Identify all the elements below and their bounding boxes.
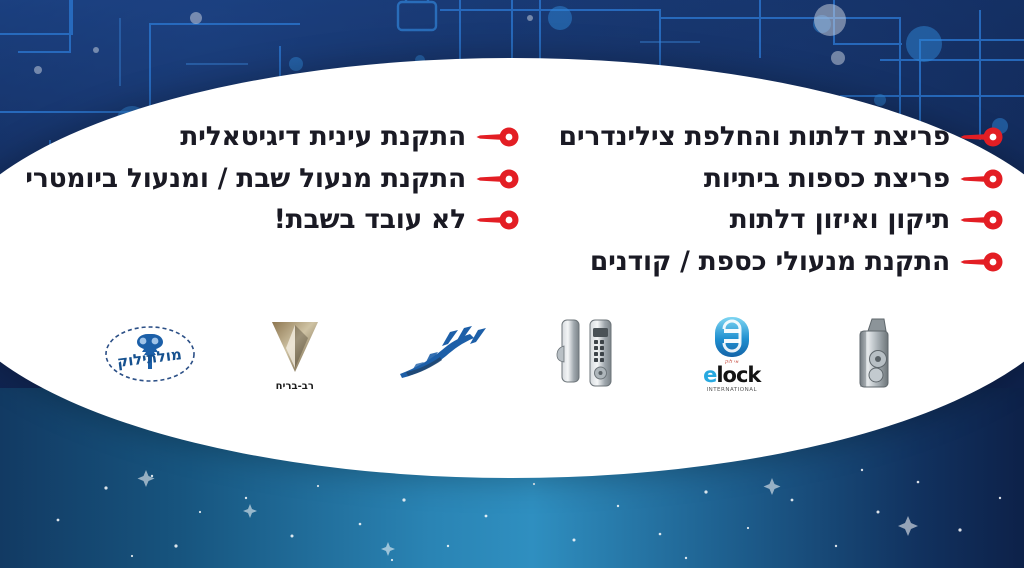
key-icon xyxy=(476,209,520,231)
logo-elock[interactable]: אי לוק elock INTERNATIONAL xyxy=(685,311,779,397)
service-item[interactable]: פריצת דלתות והחלפת צילינדרים xyxy=(534,122,1004,152)
services-list: פריצת דלתות והחלפת צילינדרים פריצת כספות… xyxy=(12,122,1012,277)
services-left-column: התקנת עינית דיגיטאלית התקנת מנעול שבת / … xyxy=(20,122,520,277)
brand-logos-row: מולתילוק רב-בריח xyxy=(102,311,922,397)
elock-subtitle: INTERNATIONAL xyxy=(706,387,757,393)
key-oval-logo-icon: מולתילוק xyxy=(102,323,198,385)
logo-cylinder-lock[interactable] xyxy=(829,311,923,397)
logo-caption: רב-בריח xyxy=(276,381,314,392)
logo-rav-bariach[interactable]: רב-בריח xyxy=(248,311,342,397)
service-label: התקנת מנעול שבת / ומנעול ביומטרי xyxy=(25,164,466,194)
elock-logo-icon xyxy=(707,315,757,359)
service-label: התקנת מנעולי כספת / קודנים xyxy=(590,247,950,277)
elock-wordmark-main: lock xyxy=(716,363,760,387)
service-label: התקנת עינית דיגיטאלית xyxy=(180,122,466,152)
logo-yale-signature[interactable] xyxy=(392,311,492,397)
service-item[interactable]: לא עובד בשבת! xyxy=(20,205,520,235)
services-right-column: פריצת דלתות והחלפת צילינדרים פריצת כספות… xyxy=(534,122,1004,277)
elock-wordmark-prefix: e xyxy=(703,363,716,387)
key-icon xyxy=(476,168,520,190)
service-item[interactable]: התקנת עינית דיגיטאלית xyxy=(20,122,520,152)
key-icon xyxy=(960,126,1004,148)
key-icon xyxy=(960,209,1004,231)
card-content: פריצת דלתות והחלפת צילינדרים פריצת כספות… xyxy=(0,58,1024,478)
keypad-lock-icon xyxy=(556,316,620,392)
cylinder-lock-icon xyxy=(852,317,898,391)
signature-logo-icon xyxy=(390,324,494,384)
service-label: פריצת כספות ביתיות xyxy=(704,164,950,194)
shield-logo-icon xyxy=(264,316,326,378)
key-icon xyxy=(960,168,1004,190)
service-label: לא עובד בשבת! xyxy=(274,205,466,235)
elock-wordmark: elock xyxy=(703,365,760,386)
service-item[interactable]: פריצת כספות ביתיות xyxy=(534,164,1004,194)
service-label: תיקון ואיזון דלתות xyxy=(730,205,950,235)
svg-text:מולתילוק: מולתילוק xyxy=(116,345,183,371)
locksmith-services-banner: פריצת דלתות והחלפת צילינדרים פריצת כספות… xyxy=(0,0,1024,568)
key-icon xyxy=(476,126,520,148)
logo-keypad-lock[interactable] xyxy=(542,311,636,397)
service-item[interactable]: התקנת מנעולי כספת / קודנים xyxy=(534,247,1004,277)
key-icon xyxy=(960,251,1004,273)
service-item[interactable]: תיקון ואיזון דלתות xyxy=(534,205,1004,235)
service-label: פריצת דלתות והחלפת צילינדרים xyxy=(559,122,950,152)
service-item[interactable]: התקנת מנעול שבת / ומנעול ביומטרי xyxy=(20,164,520,194)
logo-mul-t-lock[interactable]: מולתילוק xyxy=(102,311,198,397)
